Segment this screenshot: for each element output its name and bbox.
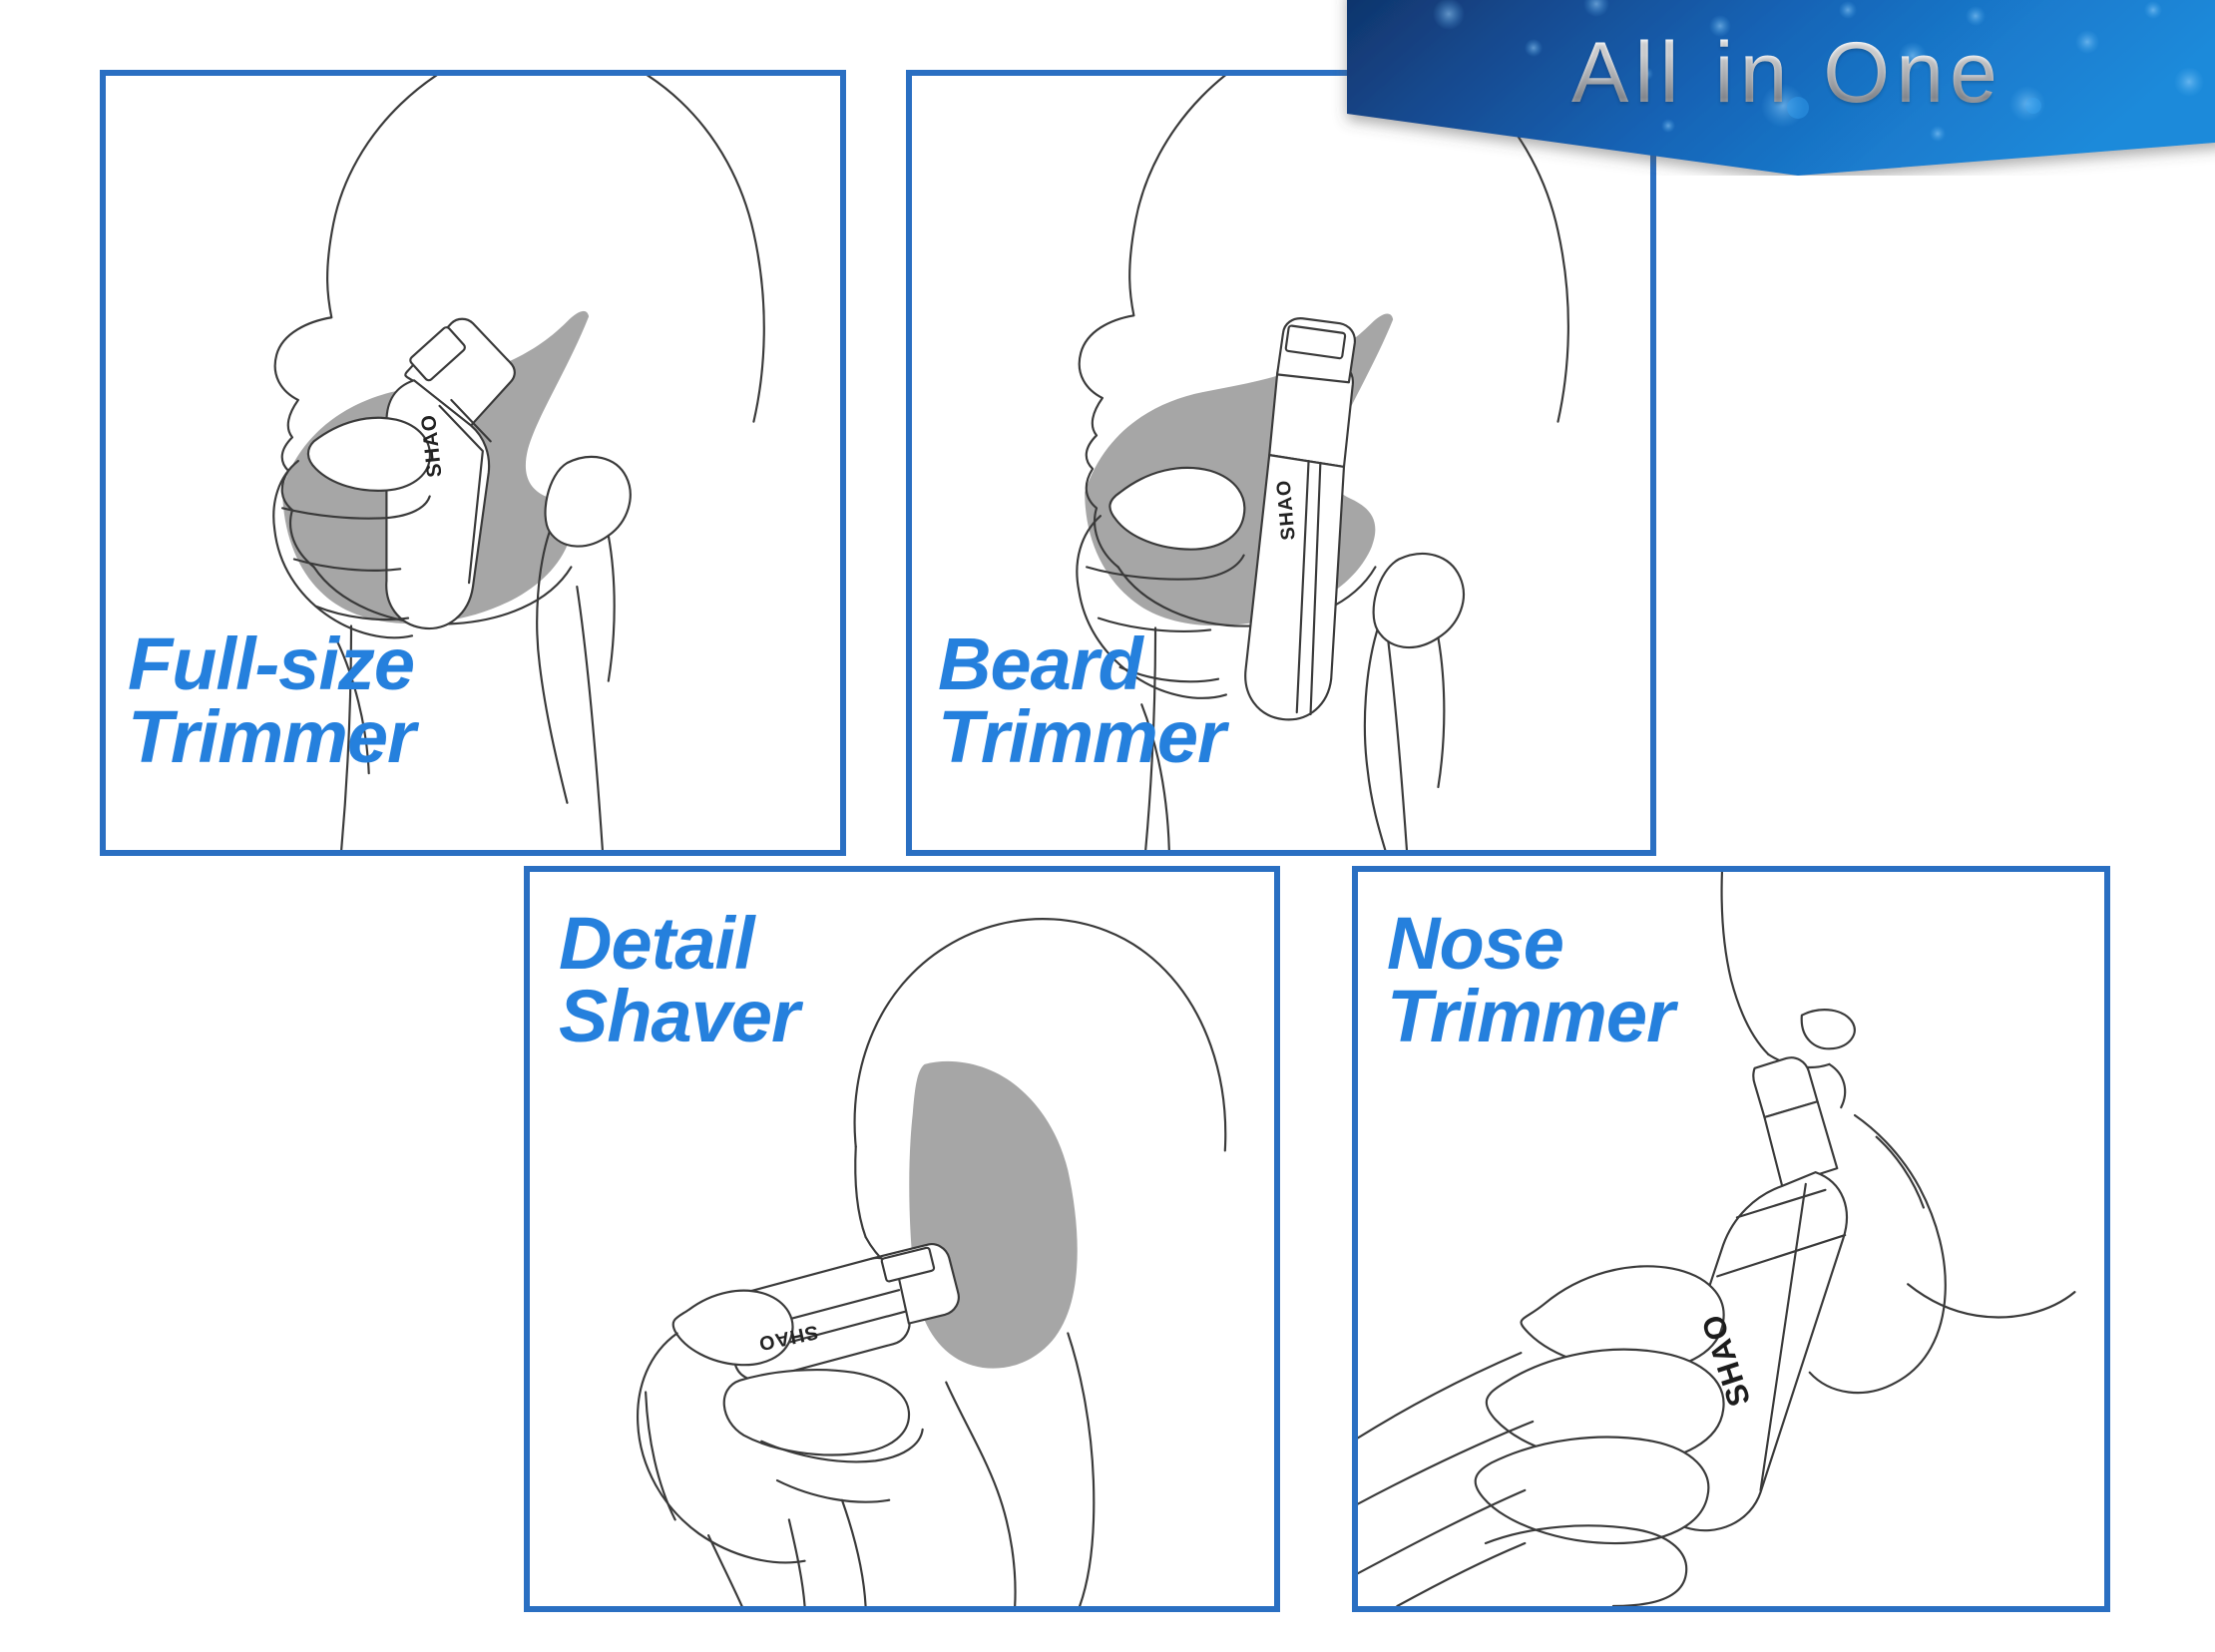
illustration-nose-trimmer: SHAO bbox=[1358, 872, 2104, 1606]
illustration-detail-shaver: SHAO bbox=[530, 872, 1274, 1606]
infographic-canvas: SHAO Full-size Trimmer bbox=[0, 0, 2215, 1652]
panel-detail-shaver[interactable]: SHAO bbox=[524, 866, 1280, 1612]
panel-beard-trimmer[interactable]: SHAO bbox=[906, 70, 1656, 856]
all-in-one-banner bbox=[1329, 0, 2215, 176]
illustration-full-size-trimmer: SHAO bbox=[106, 76, 840, 850]
illustration-beard-trimmer: SHAO bbox=[912, 76, 1650, 850]
panel-nose-trimmer[interactable]: SHAO bbox=[1352, 866, 2110, 1612]
panel-full-size-trimmer[interactable]: SHAO bbox=[100, 70, 846, 856]
